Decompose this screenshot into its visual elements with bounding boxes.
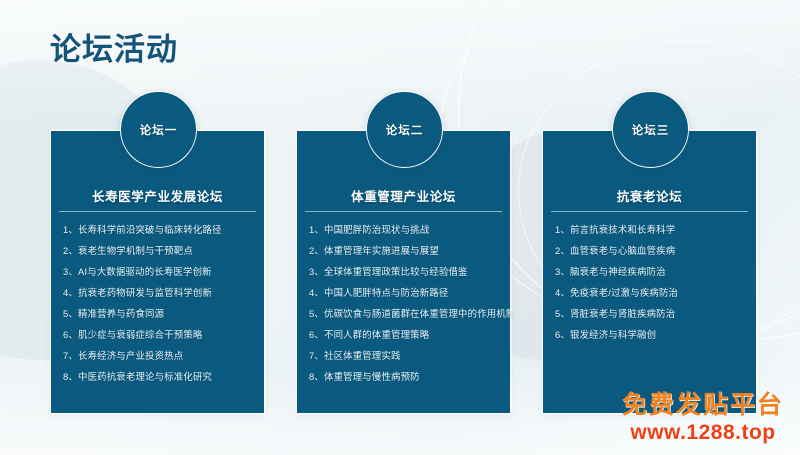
list-item: 1、前言抗衰技术和长寿科学 bbox=[555, 219, 746, 240]
list-item: 1、长寿科学前沿突破与临床转化路径 bbox=[63, 219, 254, 240]
forum-card-1-header: 长寿医学产业发展论坛 bbox=[51, 179, 264, 211]
forum-card-1[interactable]: 长寿医学产业发展论坛 1、长寿科学前沿突破与临床转化路径 2、衰老生物学机制与干… bbox=[51, 131, 264, 413]
list-item: 4、抗衰老药物研发与监管科学创新 bbox=[63, 282, 254, 303]
list-item: 6、不同人群的体重管理策略 bbox=[309, 324, 500, 345]
list-item: 7、长寿经济与产业投资热点 bbox=[63, 345, 254, 366]
list-item: 3、AI与大数据驱动的长寿医学创新 bbox=[63, 261, 254, 282]
forum-card-3-divider bbox=[551, 211, 748, 212]
list-item: 6、肌少症与衰弱症综合干预策略 bbox=[63, 324, 254, 345]
forum-card-3-header: 抗衰老论坛 bbox=[543, 179, 756, 211]
forum-card-1-topic-list: 1、长寿科学前沿突破与临床转化路径 2、衰老生物学机制与干预靶点 3、AI与大数… bbox=[51, 219, 264, 387]
watermark-chinese-text: 免费发贴平台 bbox=[622, 393, 784, 418]
list-item: 4、中国人肥胖特点与防治新路径 bbox=[309, 282, 500, 303]
forum-card-1-divider bbox=[59, 211, 256, 212]
list-item: 5、肾脏衰老与肾脏疾病防治 bbox=[555, 303, 746, 324]
list-item: 2、体重管理年实施进展与展望 bbox=[309, 240, 500, 261]
list-item: 8、中医药抗衰老理论与标准化研究 bbox=[63, 366, 254, 387]
watermark-url-text: www.1288.top bbox=[622, 422, 784, 443]
list-item: 4、免疫衰老/过激与疾病防治 bbox=[555, 282, 746, 303]
list-item: 2、衰老生物学机制与干预靶点 bbox=[63, 240, 254, 261]
slide-canvas: 论坛活动 长寿医学产业发展论坛 1、长寿科学前沿突破与临床转化路径 2、衰老生物… bbox=[0, 0, 800, 455]
watermark: 免费发贴平台 www.1288.top bbox=[622, 393, 784, 443]
forum-card-2-divider bbox=[305, 211, 502, 212]
forum-card-3-topic-list: 1、前言抗衰技术和长寿科学 2、血管衰老与心脑血管疾病 3、脑衰老与神经疾病防治… bbox=[543, 219, 756, 345]
list-item: 6、银发经济与科学融创 bbox=[555, 324, 746, 345]
list-item: 1、中国肥胖防治现状与挑战 bbox=[309, 219, 500, 240]
forum-card-2-header: 体重管理产业论坛 bbox=[297, 179, 510, 211]
list-item: 5、精准营养与药食同源 bbox=[63, 303, 254, 324]
list-item: 3、全球体重管理政策比较与经验借鉴 bbox=[309, 261, 500, 282]
list-item: 7、社区体重管理实践 bbox=[309, 345, 500, 366]
list-item: 3、脑衰老与神经疾病防治 bbox=[555, 261, 746, 282]
forum-badge-2[interactable]: 论坛二 bbox=[366, 91, 443, 168]
forum-badge-1[interactable]: 论坛一 bbox=[120, 91, 197, 168]
list-item: 5、优碳饮食与肠道菌群在体重管理中的作用机制 bbox=[309, 303, 500, 324]
forum-card-2-topic-list: 1、中国肥胖防治现状与挑战 2、体重管理年实施进展与展望 3、全球体重管理政策比… bbox=[297, 219, 510, 387]
list-item: 8、体重管理与慢性病预防 bbox=[309, 366, 500, 387]
forum-card-2[interactable]: 体重管理产业论坛 1、中国肥胖防治现状与挑战 2、体重管理年实施进展与展望 3、… bbox=[297, 131, 510, 413]
page-title: 论坛活动 bbox=[50, 24, 178, 69]
list-item: 2、血管衰老与心脑血管疾病 bbox=[555, 240, 746, 261]
forum-card-3[interactable]: 抗衰老论坛 1、前言抗衰技术和长寿科学 2、血管衰老与心脑血管疾病 3、脑衰老与… bbox=[543, 131, 756, 413]
forum-badge-3[interactable]: 论坛三 bbox=[612, 91, 689, 168]
